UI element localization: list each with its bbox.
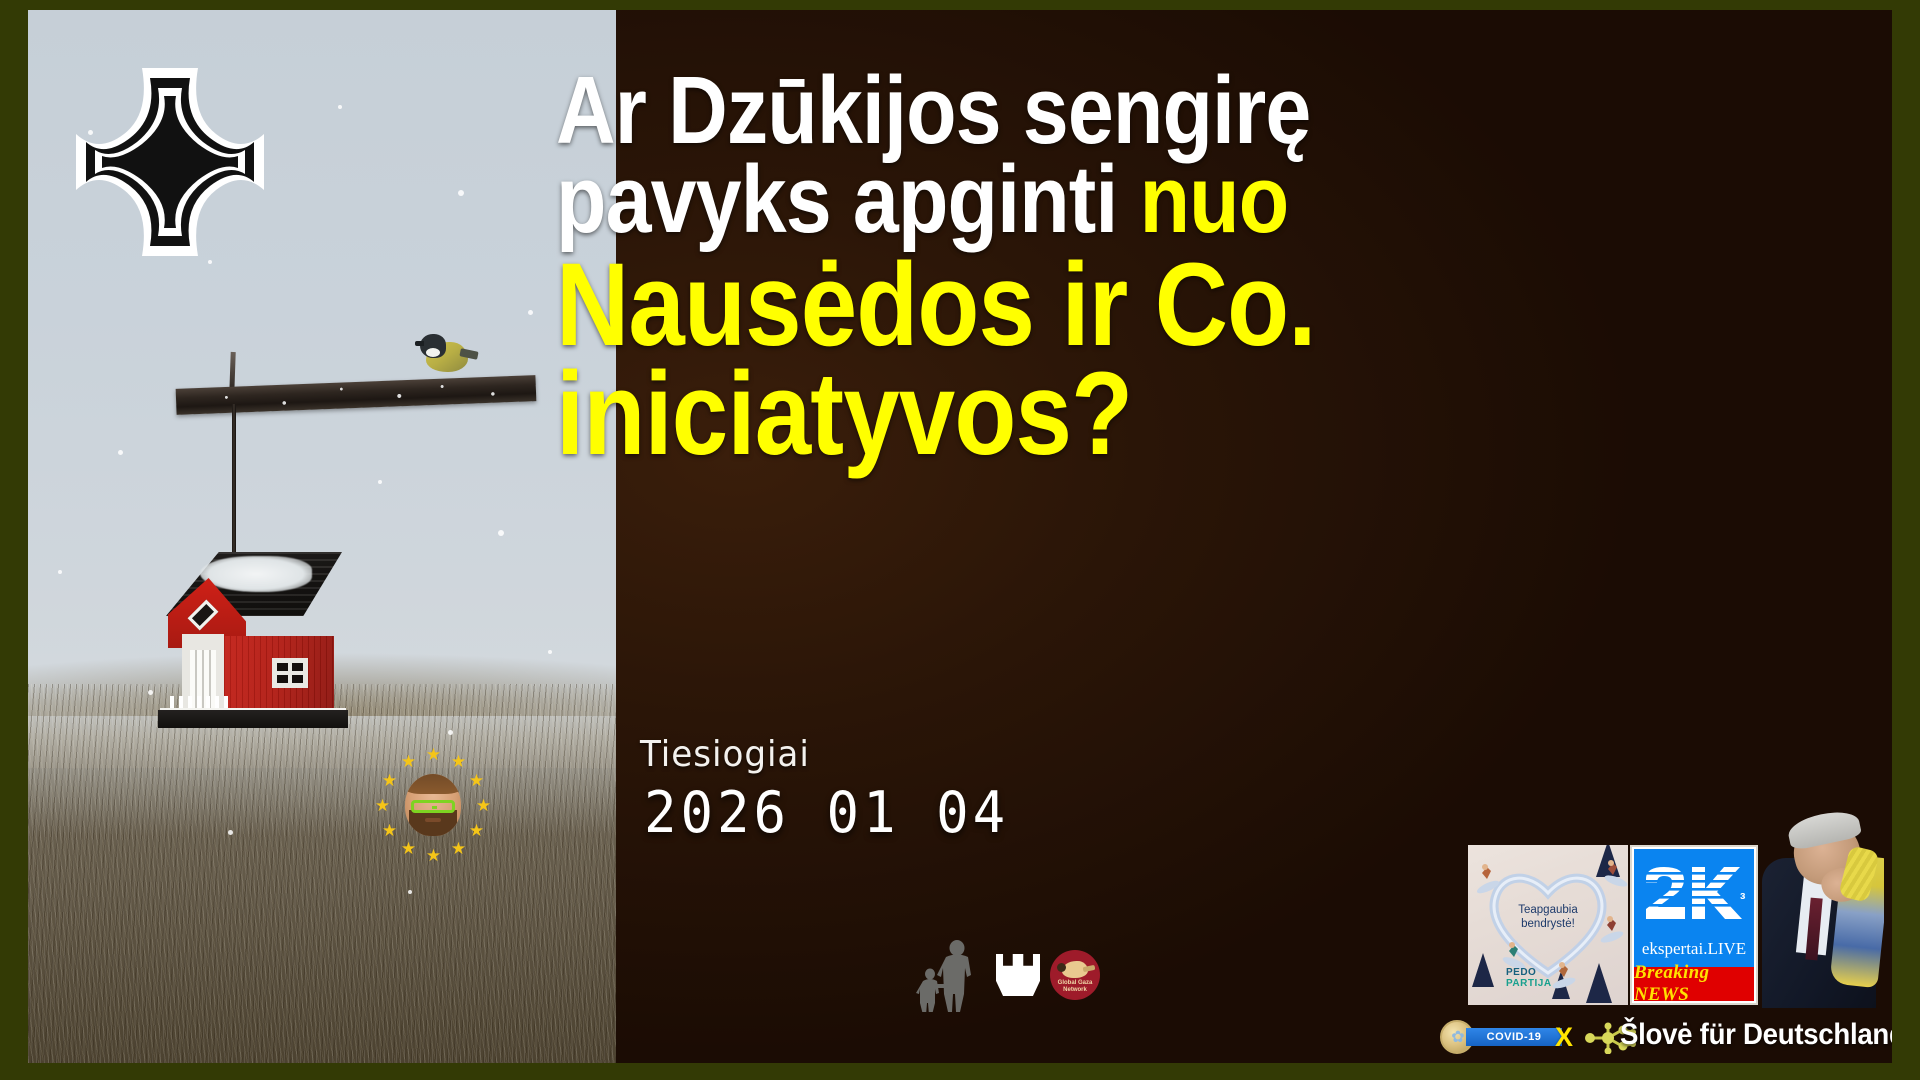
eu-star: ★ [468, 822, 485, 839]
hanging-wire [232, 404, 236, 556]
great-tit-bird [420, 328, 476, 382]
snowflake [498, 530, 504, 536]
headline-block: Ar Dzūkijos sengirę pavyks apginti nuo N… [556, 66, 1696, 470]
snowflake [528, 310, 533, 315]
snowflake [118, 450, 123, 455]
live-label: Tiesiogiai [640, 734, 991, 775]
iron-cross-icon [70, 62, 270, 262]
svg-text:ɜ: ɜ [1740, 890, 1746, 902]
gaza-badge-line-1: Global Gaza [1050, 980, 1100, 987]
headline-line-4: iniciatyvos? [556, 360, 1536, 470]
live-info-block: Tiesiogiai 2026 01 04 [640, 734, 1009, 844]
snowflake [548, 650, 552, 654]
gaza-bird-icon [1062, 961, 1088, 978]
forget-me-not-flower-icon: ✿ [1450, 1030, 1466, 1046]
face-beard [409, 810, 457, 836]
thumbnail-canvas: ★ ★ ★ ★ ★ ★ ★ ★ ★ ★ ★ ★ [0, 0, 1920, 1080]
breaking-news-label: Breaking NEWS [1634, 962, 1754, 1006]
snowflake [448, 730, 453, 735]
dry-brush-field [28, 684, 616, 1063]
covid-ribbon-label: COVID-19 [1487, 1031, 1542, 1043]
pedo-partija-line-1: PEDO [1506, 967, 1552, 978]
eu-star: ★ [374, 797, 391, 814]
face-mouth [425, 818, 441, 822]
roof-snow [200, 556, 312, 592]
2k-ekspertai-live-logo: ɜ ekspertai.LIVE Breaking NEWS [1630, 845, 1758, 1005]
snowflake [458, 190, 464, 196]
snowflake [408, 890, 412, 894]
headline-line-2: pavyks apginti nuo [556, 155, 1536, 244]
slogan-text: Šlovė für Deutschland [1620, 1018, 1892, 1052]
green-glasses-icon [411, 800, 455, 813]
eu-star: ★ [381, 822, 398, 839]
face-hair [405, 774, 461, 794]
red-birdhouse [148, 550, 348, 735]
eu-star: ★ [450, 753, 467, 770]
ski-card-text: Teapgaubia bendrystė! [1468, 903, 1628, 931]
gaza-badge-text: Global Gaza Network [1050, 980, 1100, 994]
snowflake [58, 570, 62, 574]
snowflake [338, 105, 342, 109]
snowflake [378, 480, 382, 484]
castle-crown-icon [996, 954, 1040, 996]
headline-line-3: Nausėdos ir Co. [556, 251, 1536, 361]
bird-cheek [426, 348, 440, 357]
bird-head [420, 334, 446, 358]
breaking-news-banner: Breaking NEWS [1634, 967, 1754, 1001]
ski-card-text-line-1: Teapgaubia [1468, 903, 1628, 917]
ski-card-text-line-2: bendrystė! [1468, 917, 1628, 931]
pedo-partija-logo: PEDO PARTIJA [1506, 967, 1552, 989]
broadcast-date: 2026 01 04 [644, 779, 1009, 846]
politician-photo [1748, 812, 1884, 1008]
2k-subtitle: ekspertai.LIVE [1634, 939, 1754, 959]
eu-star: ★ [400, 753, 417, 770]
global-gaza-network-badge: Global Gaza Network [1050, 950, 1100, 1000]
statue-figures-icon [912, 938, 986, 1012]
winter-birdfeeder-photo: ★ ★ ★ ★ ★ ★ ★ ★ ★ ★ ★ ★ [28, 10, 616, 1063]
eu-star: ★ [425, 847, 442, 864]
eu-star: ★ [400, 840, 417, 857]
2k-blue-panel: ɜ ekspertai.LIVE [1634, 849, 1754, 967]
bottom-right-logo-cluster: Teapgaubia bendrystė! PEDO PARTIJA [1422, 812, 1892, 1062]
snowflake [228, 830, 233, 835]
2k-wordmark-icon: ɜ [1644, 865, 1750, 921]
headline-line-1: Ar Dzūkijos sengirę [556, 66, 1536, 155]
eu-badge-face [405, 774, 461, 836]
eu-star: ★ [425, 746, 442, 763]
ski-heart-card: Teapgaubia bendrystė! PEDO PARTIJA [1468, 845, 1628, 1005]
eu-star: ★ [450, 840, 467, 857]
eu-stars-face-badge: ★ ★ ★ ★ ★ ★ ★ ★ ★ ★ ★ ★ [374, 746, 492, 864]
x-mark-icon: X [1550, 1022, 1578, 1052]
content-panel: ★ ★ ★ ★ ★ ★ ★ ★ ★ ★ ★ ★ [28, 10, 1892, 1063]
eu-star: ★ [475, 797, 492, 814]
gaza-badge-line-2: Network [1050, 987, 1100, 994]
center-icon-row: Global Gaza Network [912, 938, 1092, 1012]
pedo-partija-line-2: PARTIJA [1506, 978, 1552, 989]
headline-line-2-accent: nuo [1140, 146, 1289, 253]
eu-star: ★ [468, 772, 485, 789]
bird-beak [415, 341, 424, 346]
birdhouse-window [272, 658, 308, 688]
birdhouse-base [158, 710, 348, 728]
eu-star: ★ [381, 772, 398, 789]
headline-line-2-white: pavyks apginti [556, 146, 1140, 253]
covid-ribbon: COVID-19 [1466, 1028, 1562, 1046]
